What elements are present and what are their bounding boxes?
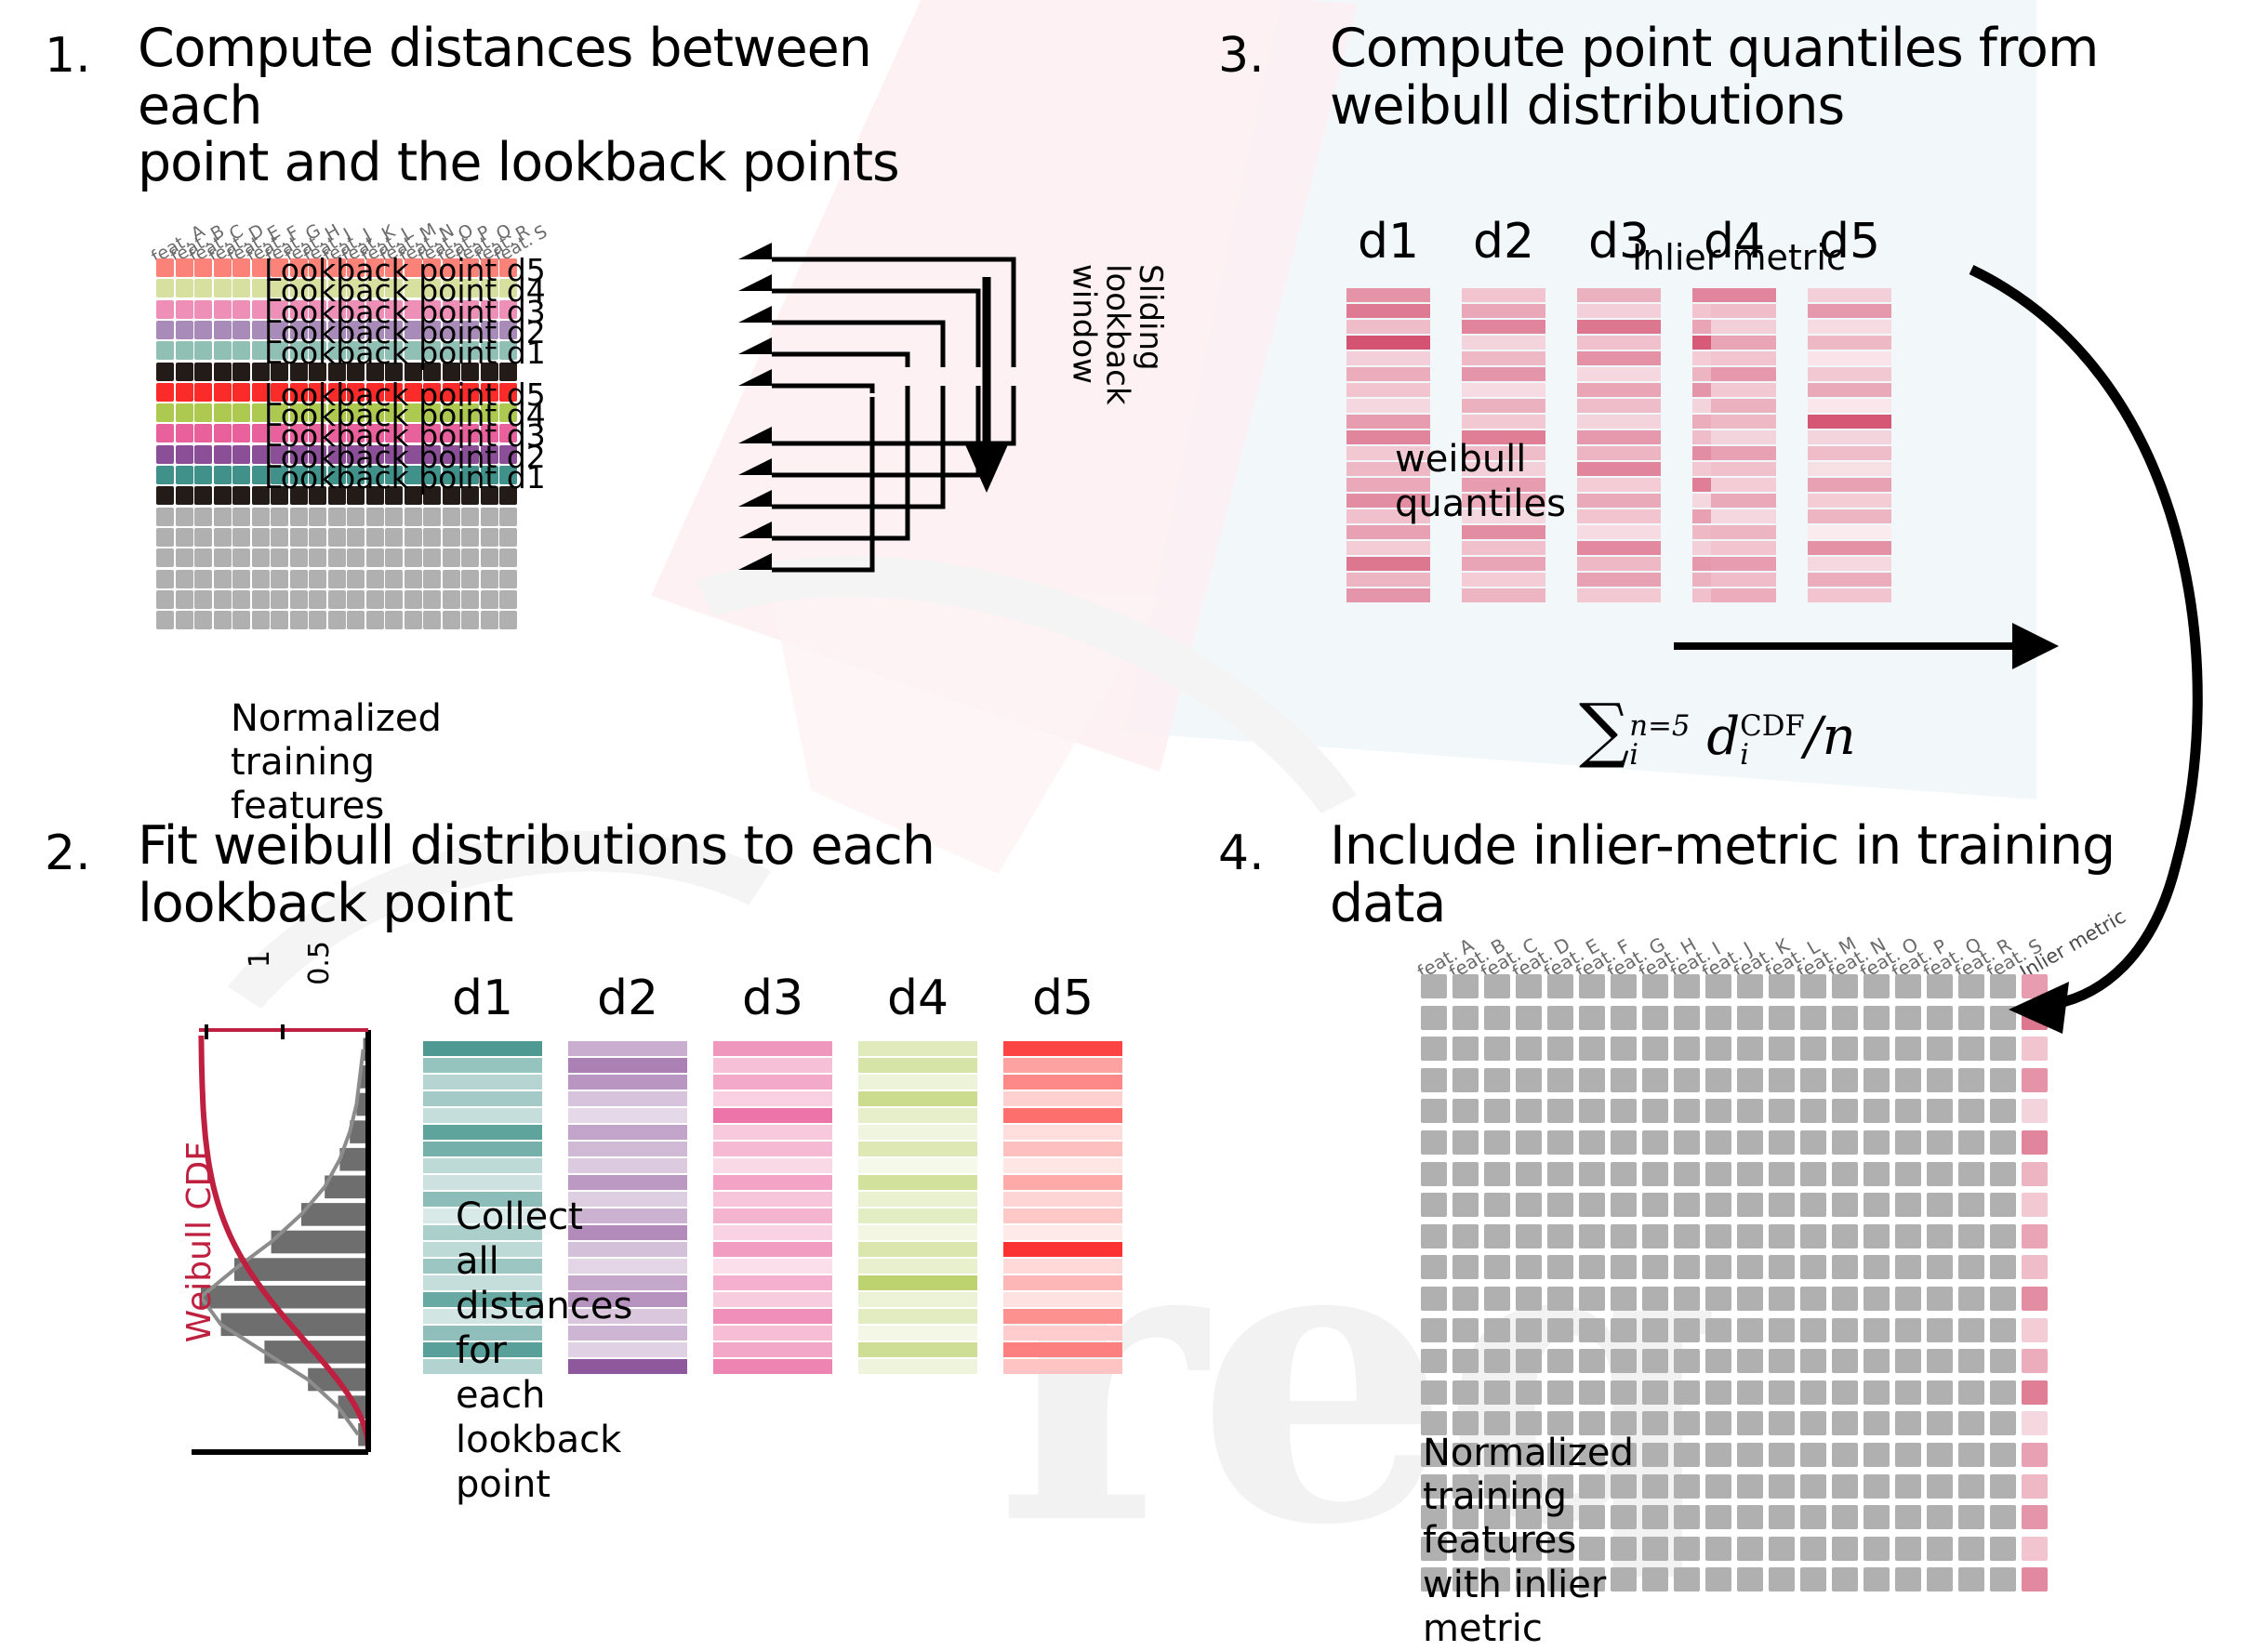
- panel4-cell: [1958, 1380, 1984, 1405]
- panel1-cell: [194, 424, 212, 442]
- panel4-cell: [1769, 1068, 1795, 1092]
- panel4-cell: [1421, 1193, 1447, 1217]
- quantile-segment: [1808, 494, 1891, 508]
- panel1-cell: [214, 403, 232, 422]
- quantile-segment: [1462, 588, 1545, 602]
- panel1-cell: [309, 590, 326, 609]
- panel1-cell: [214, 424, 232, 442]
- panel1-cell: [271, 548, 288, 567]
- panel4-cell: [1863, 1411, 1890, 1435]
- panel4-cell: [1990, 1224, 2016, 1248]
- panel4-cell: [1452, 1099, 1479, 1123]
- sliding-window-label: Sliding lookback window: [1067, 264, 1166, 405]
- panel4-cell: [1895, 1006, 1921, 1030]
- panel4-cell: [1579, 1224, 1605, 1248]
- panel4-cell: [1832, 974, 1858, 998]
- panel4-cell: [1611, 1162, 1637, 1186]
- panel4-cell: [1800, 1443, 1826, 1467]
- quantile-segment: [1577, 288, 1661, 302]
- distance-segment: [1003, 1309, 1122, 1324]
- panel1-cell: [461, 590, 479, 609]
- quantile-segment: [1462, 573, 1545, 587]
- quantile-segment: [1577, 383, 1661, 397]
- quantile-segment: [1462, 367, 1545, 381]
- panel4-cell: [1516, 1006, 1542, 1030]
- quantile-segment: [1808, 351, 1891, 365]
- distance-segment: [713, 1359, 832, 1374]
- panel1-cell: [443, 508, 460, 526]
- panel1-cell: [423, 570, 441, 588]
- panel4-cell: [1484, 1130, 1510, 1155]
- panel4-cell: [1800, 1567, 1826, 1592]
- panel4-cell: [1642, 1287, 1668, 1311]
- quantile-segment: [1346, 367, 1430, 381]
- panel4-cell: [1958, 1318, 1984, 1342]
- panel4-cell: [1674, 1474, 1700, 1499]
- panel1-cell: [443, 570, 460, 588]
- panel4-cell: [1927, 1443, 1953, 1467]
- panel4-inlier-cell: [2022, 1318, 2048, 1342]
- panel4-cell: [1516, 1130, 1542, 1155]
- quantile-segment: [1346, 541, 1430, 555]
- panel3-inlier-metric-header: Inlier metric: [1632, 237, 1846, 278]
- panel1-cell: [290, 611, 308, 629]
- quantile-segment: [1808, 304, 1891, 318]
- panel1-cell: [290, 548, 308, 567]
- quantile-segment: [1462, 288, 1545, 302]
- panel4-cell: [1958, 1068, 1984, 1092]
- panel1-cell: [481, 611, 498, 629]
- quantile-segment: [1346, 383, 1430, 397]
- inlier-to-training-arrow: [1953, 260, 2260, 1041]
- panel1-cell: [385, 548, 403, 567]
- panel4-cell: [1863, 1255, 1890, 1279]
- panel4-cell: [1484, 1006, 1510, 1030]
- panel4-cell: [1452, 1224, 1479, 1248]
- panel1-cell: [290, 528, 308, 547]
- panel1-cell: [366, 570, 384, 588]
- quantile-segment: [1808, 446, 1891, 460]
- panel4-cell: [1769, 1099, 1795, 1123]
- distance-segment: [713, 1242, 832, 1257]
- panel4-cell: [1832, 1193, 1858, 1217]
- distance-segment: [858, 1225, 977, 1240]
- panel4-cell: [1800, 1162, 1826, 1186]
- panel1-cell: [176, 570, 193, 588]
- panel4-cell: [1674, 1318, 1700, 1342]
- quantile-segment: [1462, 383, 1545, 397]
- panel4-cell: [1705, 1224, 1731, 1248]
- panel4-cell: [1863, 1443, 1890, 1467]
- inlier-metric-segment: [1711, 367, 1776, 381]
- panel4-cell: [1863, 1287, 1890, 1311]
- panel4-cell: [1674, 974, 1700, 998]
- panel4-cell: [1516, 1099, 1542, 1123]
- panel4-cell: [1895, 1255, 1921, 1279]
- panel4-cell: [1769, 974, 1795, 998]
- panel4-cell: [1547, 1349, 1573, 1373]
- distance-segment: [1003, 1108, 1122, 1123]
- panel1-cell: [423, 548, 441, 567]
- panel4-cell: [1611, 1224, 1637, 1248]
- panel4-cell: [1769, 1037, 1795, 1061]
- panel4-cell: [1832, 1162, 1858, 1186]
- panel4-cell: [1674, 1006, 1700, 1030]
- inlier-metric-segment: [1711, 430, 1776, 444]
- distance-segment: [858, 1209, 977, 1223]
- panel1-cell: [385, 570, 403, 588]
- formula-term-sup: CDF: [1740, 712, 1805, 741]
- panel1-cell: [271, 508, 288, 526]
- panel4-cell: [1800, 1537, 1826, 1561]
- panel4-cell: [1863, 1349, 1890, 1373]
- panel1-cell: [443, 548, 460, 567]
- quantile-segment: [1462, 320, 1545, 334]
- panel4-cell: [1895, 1380, 1921, 1405]
- panel4-cell: [1674, 1068, 1700, 1092]
- panel4-cell: [1737, 1474, 1763, 1499]
- panel4-cell: [1674, 1255, 1700, 1279]
- panel4-cell: [1516, 1162, 1542, 1186]
- panel1-cell: [176, 321, 193, 339]
- inlier-metric-formula: ∑ n=5 i d CDF i /n: [1579, 688, 1856, 771]
- panel4-cell: [1990, 1411, 2016, 1435]
- panel1-cell: [271, 590, 288, 609]
- panel1-cell: [499, 590, 517, 609]
- panel1-cell: [214, 279, 232, 297]
- panel4-cell: [1421, 1349, 1447, 1373]
- cdf-tick-0-5: 0.5: [303, 941, 336, 985]
- quantile-segment: [1808, 336, 1891, 350]
- distance-segment: [423, 1041, 542, 1056]
- panel4-cell: [1705, 1349, 1731, 1373]
- panel4-cell: [1927, 1567, 1953, 1592]
- panel1-cell: [156, 363, 174, 381]
- panel4-cell: [1958, 1224, 1984, 1248]
- distance-segment: [858, 1192, 977, 1207]
- panel4-cell: [1737, 1567, 1763, 1592]
- quantile-segment: [1462, 351, 1545, 365]
- panel4-cell: [1642, 1037, 1668, 1061]
- quantile-segment: [1808, 383, 1891, 397]
- panel4-cell: [1737, 1162, 1763, 1186]
- panel4-cell: [1832, 1349, 1858, 1373]
- panel1-cell: [328, 611, 346, 629]
- panel4-cell: [1769, 1130, 1795, 1155]
- quantile-segment: [1577, 446, 1661, 460]
- panel4-cell: [1800, 1505, 1826, 1529]
- panel4-cell: [1927, 1349, 1953, 1373]
- panel4-cell: [1832, 1287, 1858, 1311]
- panel4-cell: [1516, 1224, 1542, 1248]
- panel4-cell: [1547, 1287, 1573, 1311]
- panel1-cell: [232, 341, 250, 360]
- quantile-segment: [1577, 430, 1661, 444]
- panel1-cell: [214, 508, 232, 526]
- panel1-cell: [232, 486, 250, 505]
- distance-segment: [858, 1175, 977, 1190]
- distance-segment: [858, 1041, 977, 1056]
- panel1-cell: [309, 508, 326, 526]
- distance-segment: [713, 1158, 832, 1173]
- panel4-inlier-cell: [2022, 1411, 2048, 1435]
- quantile-segment: [1808, 399, 1891, 413]
- panel4-inlier-cell: [2022, 1567, 2048, 1592]
- panel4-cell: [1958, 1505, 1984, 1529]
- panel1-cell: [194, 528, 212, 547]
- panel4-cell: [1800, 1068, 1826, 1092]
- distance-segment: [858, 1075, 977, 1090]
- distance-segment: [1003, 1359, 1122, 1374]
- panel4-cell: [1895, 1411, 1921, 1435]
- panel4-cell: [1769, 1567, 1795, 1592]
- quantile-segment: [1808, 509, 1891, 523]
- panel1-cell: [461, 508, 479, 526]
- panel4-cell: [1705, 1567, 1731, 1592]
- distance-segment: [1003, 1275, 1122, 1290]
- panel4-cell: [1674, 1505, 1700, 1529]
- panel1-cell: [443, 611, 460, 629]
- panel4-cell: [1895, 1068, 1921, 1092]
- panel4-cell: [1769, 1537, 1795, 1561]
- panel4-cell: [1895, 1537, 1921, 1561]
- panel4-cell: [1769, 1474, 1795, 1499]
- panel4-cell: [1832, 1567, 1858, 1592]
- quantile-segment: [1462, 399, 1545, 413]
- panel4-cell: [1800, 1318, 1826, 1342]
- panel1-cell: [214, 466, 232, 484]
- panel4-cell: [1705, 1162, 1731, 1186]
- panel4-cell: [1452, 1130, 1479, 1155]
- panel4-cell: [1990, 1505, 2016, 1529]
- distance-segment: [858, 1058, 977, 1073]
- panel2-overlay-text: Collect all distances for each lookback …: [456, 1195, 632, 1507]
- panel4-cell: [1832, 1068, 1858, 1092]
- panel4-cell: [1863, 1130, 1890, 1155]
- panel1-cell: [176, 528, 193, 547]
- distance-segment: [423, 1142, 542, 1156]
- distance-segment: [858, 1142, 977, 1156]
- panel1-cell: [176, 445, 193, 464]
- distance-segment: [713, 1225, 832, 1240]
- panel1-cell: [156, 590, 174, 609]
- inlier-metric-segment: [1711, 399, 1776, 413]
- panel4-cell: [1452, 1255, 1479, 1279]
- panel4-cell: [1705, 1537, 1731, 1561]
- panel4-cell: [1421, 1130, 1447, 1155]
- distance-segment: [568, 1058, 687, 1073]
- panel1-cell: [214, 383, 232, 402]
- panel1-cell: [194, 279, 212, 297]
- panel1-cell: [214, 528, 232, 547]
- panel1-cell: [232, 279, 250, 297]
- quantile-segment: [1577, 462, 1661, 476]
- panel4-cell: [1800, 1006, 1826, 1030]
- panel4-cell: [1705, 1193, 1731, 1217]
- panel4-cell: [1800, 1411, 1826, 1435]
- inlier-metric-segment: [1711, 478, 1776, 492]
- panel4-cell: [1958, 1130, 1984, 1155]
- panel1-cell: [232, 321, 250, 339]
- panel4-cell: [1484, 1068, 1510, 1092]
- panel4-cell: [1769, 1380, 1795, 1405]
- panel4-cell: [1484, 1099, 1510, 1123]
- panel4-cell: [1705, 1380, 1731, 1405]
- panel4-cell: [1579, 1006, 1605, 1030]
- panel4-cell: [1705, 1411, 1731, 1435]
- distance-segment: [568, 1125, 687, 1140]
- quantile-segment: [1808, 462, 1891, 476]
- panel4-cell: [1579, 1162, 1605, 1186]
- panel1-cell: [252, 508, 270, 526]
- panel4-cell: [1705, 1255, 1731, 1279]
- panel4-cell: [1769, 1287, 1795, 1311]
- panel4-cell: [1863, 1474, 1890, 1499]
- panel1-cell: [176, 383, 193, 402]
- panel4-cell: [1990, 1318, 2016, 1342]
- panel4-cell: [1484, 1255, 1510, 1279]
- panel4-cell: [1800, 1349, 1826, 1373]
- panel1-cell: [156, 548, 174, 567]
- panel1-cell: [194, 300, 212, 319]
- panel1-cell: [271, 528, 288, 547]
- panel1-cell: [156, 383, 174, 402]
- panel4-cell: [1990, 1162, 2016, 1186]
- panel4-cell: [1769, 1318, 1795, 1342]
- quantile-segment: [1577, 588, 1661, 602]
- distance-column-header-d2: d2: [568, 971, 687, 1026]
- distance-segment: [858, 1309, 977, 1324]
- panel1-cell: [194, 590, 212, 609]
- quantile-segment: [1577, 509, 1661, 523]
- panel4-cell: [1927, 1537, 1953, 1561]
- panel4-cell: [1642, 1224, 1668, 1248]
- panel4-cell: [1579, 1068, 1605, 1092]
- sliding-window-indicator: Sliding lookback window: [962, 270, 1139, 502]
- panel4-cell: [1863, 1318, 1890, 1342]
- panel1-cell: [366, 548, 384, 567]
- panel4-cell: [1863, 1006, 1890, 1030]
- distance-segment: [713, 1309, 832, 1324]
- quantile-segment: [1808, 541, 1891, 555]
- panel4-cell: [1579, 1380, 1605, 1405]
- distance-segment: [713, 1041, 832, 1056]
- quantile-segment: [1808, 525, 1891, 539]
- panel4-cell: [1547, 974, 1573, 998]
- panel1-cell: [194, 403, 212, 422]
- panel4-cell: [1705, 1130, 1731, 1155]
- panel4-cell: [1611, 1037, 1637, 1061]
- panel1-cell: [232, 590, 250, 609]
- distance-segment: [423, 1175, 542, 1190]
- step-4-number: 4.: [1218, 825, 1265, 881]
- weibull-cdf-plot: 1 0.5 Weibull CDF: [186, 1023, 381, 1459]
- panel1-cell: [176, 279, 193, 297]
- panel4-cell: [1484, 1193, 1510, 1217]
- panel1-cell: [156, 445, 174, 464]
- cdf-histogram-bar: [301, 1203, 368, 1226]
- panel1-cell: [499, 548, 517, 567]
- panel1-cell: [156, 466, 174, 484]
- distance-segment: [1003, 1259, 1122, 1274]
- quantile-segment: [1808, 588, 1891, 602]
- distance-segment: [568, 1108, 687, 1123]
- panel4-cell: [1832, 1505, 1858, 1529]
- panel4-cell: [1674, 1411, 1700, 1435]
- panel1-cell: [156, 508, 174, 526]
- panel1-cell: [156, 341, 174, 360]
- panel1-cell: [232, 570, 250, 588]
- step-1-title: Compute distances between each point and…: [138, 20, 975, 192]
- panel4-cell: [1642, 1443, 1668, 1467]
- panel4-cell: [1895, 1567, 1921, 1592]
- panel1-cell: [176, 363, 193, 381]
- distance-segment: [858, 1091, 977, 1106]
- quantile-segment: [1346, 288, 1430, 302]
- panel4-cell: [1895, 1099, 1921, 1123]
- panel1-cell: [232, 466, 250, 484]
- panel1-cell: [176, 548, 193, 567]
- panel4-cell: [1516, 1193, 1542, 1217]
- panel4-cell: [1990, 1349, 2016, 1373]
- panel4-cell: [1863, 1505, 1890, 1529]
- panel4-cell: [1421, 1099, 1447, 1123]
- panel4-cell: [1737, 1318, 1763, 1342]
- panel4-cell: [1674, 1162, 1700, 1186]
- panel4-cell: [1579, 1099, 1605, 1123]
- inlier-metric-segment: [1711, 351, 1776, 365]
- distance-segment: [713, 1342, 832, 1357]
- distance-segment: [423, 1058, 542, 1073]
- panel4-cell: [1990, 1099, 2016, 1123]
- distance-segment: [1003, 1041, 1122, 1056]
- quantile-segment: [1577, 399, 1661, 413]
- panel1-cell: [214, 445, 232, 464]
- distance-column-header-d1: d1: [423, 971, 542, 1026]
- panel4-cell: [1484, 1287, 1510, 1311]
- panel4-inlier-cell: [2022, 1224, 2048, 1248]
- quantile-segment: [1346, 588, 1430, 602]
- distance-segment: [858, 1259, 977, 1274]
- panel4-cell: [1611, 1068, 1637, 1092]
- panel1-cell: [366, 590, 384, 609]
- quantile-segment: [1346, 557, 1430, 571]
- panel1-cell: [232, 258, 250, 277]
- panel4-cell: [1895, 1224, 1921, 1248]
- panel1-cell: [405, 548, 422, 567]
- panel1-cell: [156, 279, 174, 297]
- panel4-cell: [1927, 1037, 1953, 1061]
- distance-segment: [1003, 1175, 1122, 1190]
- panel4-cell: [1895, 1130, 1921, 1155]
- panel4-cell: [1674, 1567, 1700, 1592]
- distance-segment: [858, 1292, 977, 1307]
- panel4-cell: [1800, 1474, 1826, 1499]
- panel4-cell: [1421, 1068, 1447, 1092]
- panel4-cell: [1705, 1068, 1731, 1092]
- panel4-cell: [1895, 1287, 1921, 1311]
- quantile-segment: [1346, 351, 1430, 365]
- panel4-cell: [1579, 1318, 1605, 1342]
- panel1-cell: [214, 486, 232, 505]
- panel1-cell: [366, 611, 384, 629]
- panel4-cell: [1484, 1318, 1510, 1342]
- panel4-cell: [1958, 1411, 1984, 1435]
- distance-segment: [568, 1142, 687, 1156]
- panel1-cell: [156, 403, 174, 422]
- panel4-cell: [1737, 1193, 1763, 1217]
- panel4-cell: [1611, 1130, 1637, 1155]
